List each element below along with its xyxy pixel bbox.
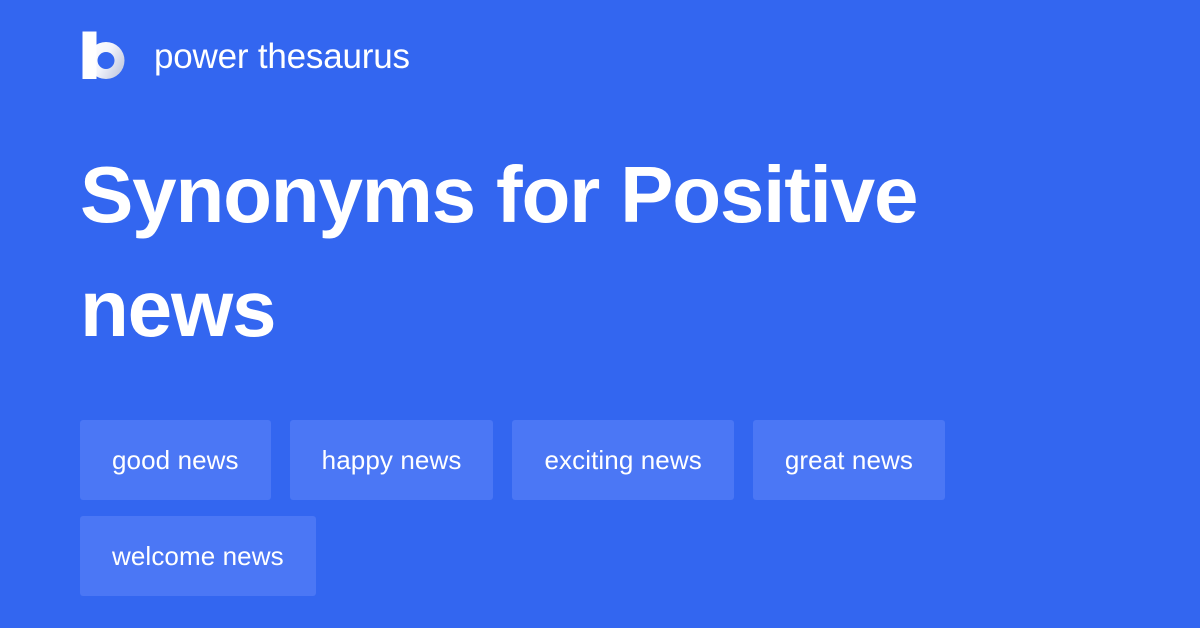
share-card: power thesaurus Synonyms for Positive ne…	[0, 0, 1200, 628]
synonym-chip[interactable]: welcome news	[80, 516, 316, 596]
synonym-chip[interactable]: great news	[753, 420, 945, 500]
synonym-chip[interactable]: good news	[80, 420, 271, 500]
page-title: Synonyms for Positive news	[80, 138, 1090, 366]
brand-lockup[interactable]: power thesaurus	[80, 28, 410, 84]
synonym-chip-list: good news happy news exciting news great…	[80, 420, 1120, 596]
synonym-chip[interactable]: happy news	[290, 420, 494, 500]
synonym-chip[interactable]: exciting news	[512, 420, 733, 500]
brand-name: power thesaurus	[154, 39, 410, 74]
power-thesaurus-b-logo-icon	[80, 30, 132, 82]
